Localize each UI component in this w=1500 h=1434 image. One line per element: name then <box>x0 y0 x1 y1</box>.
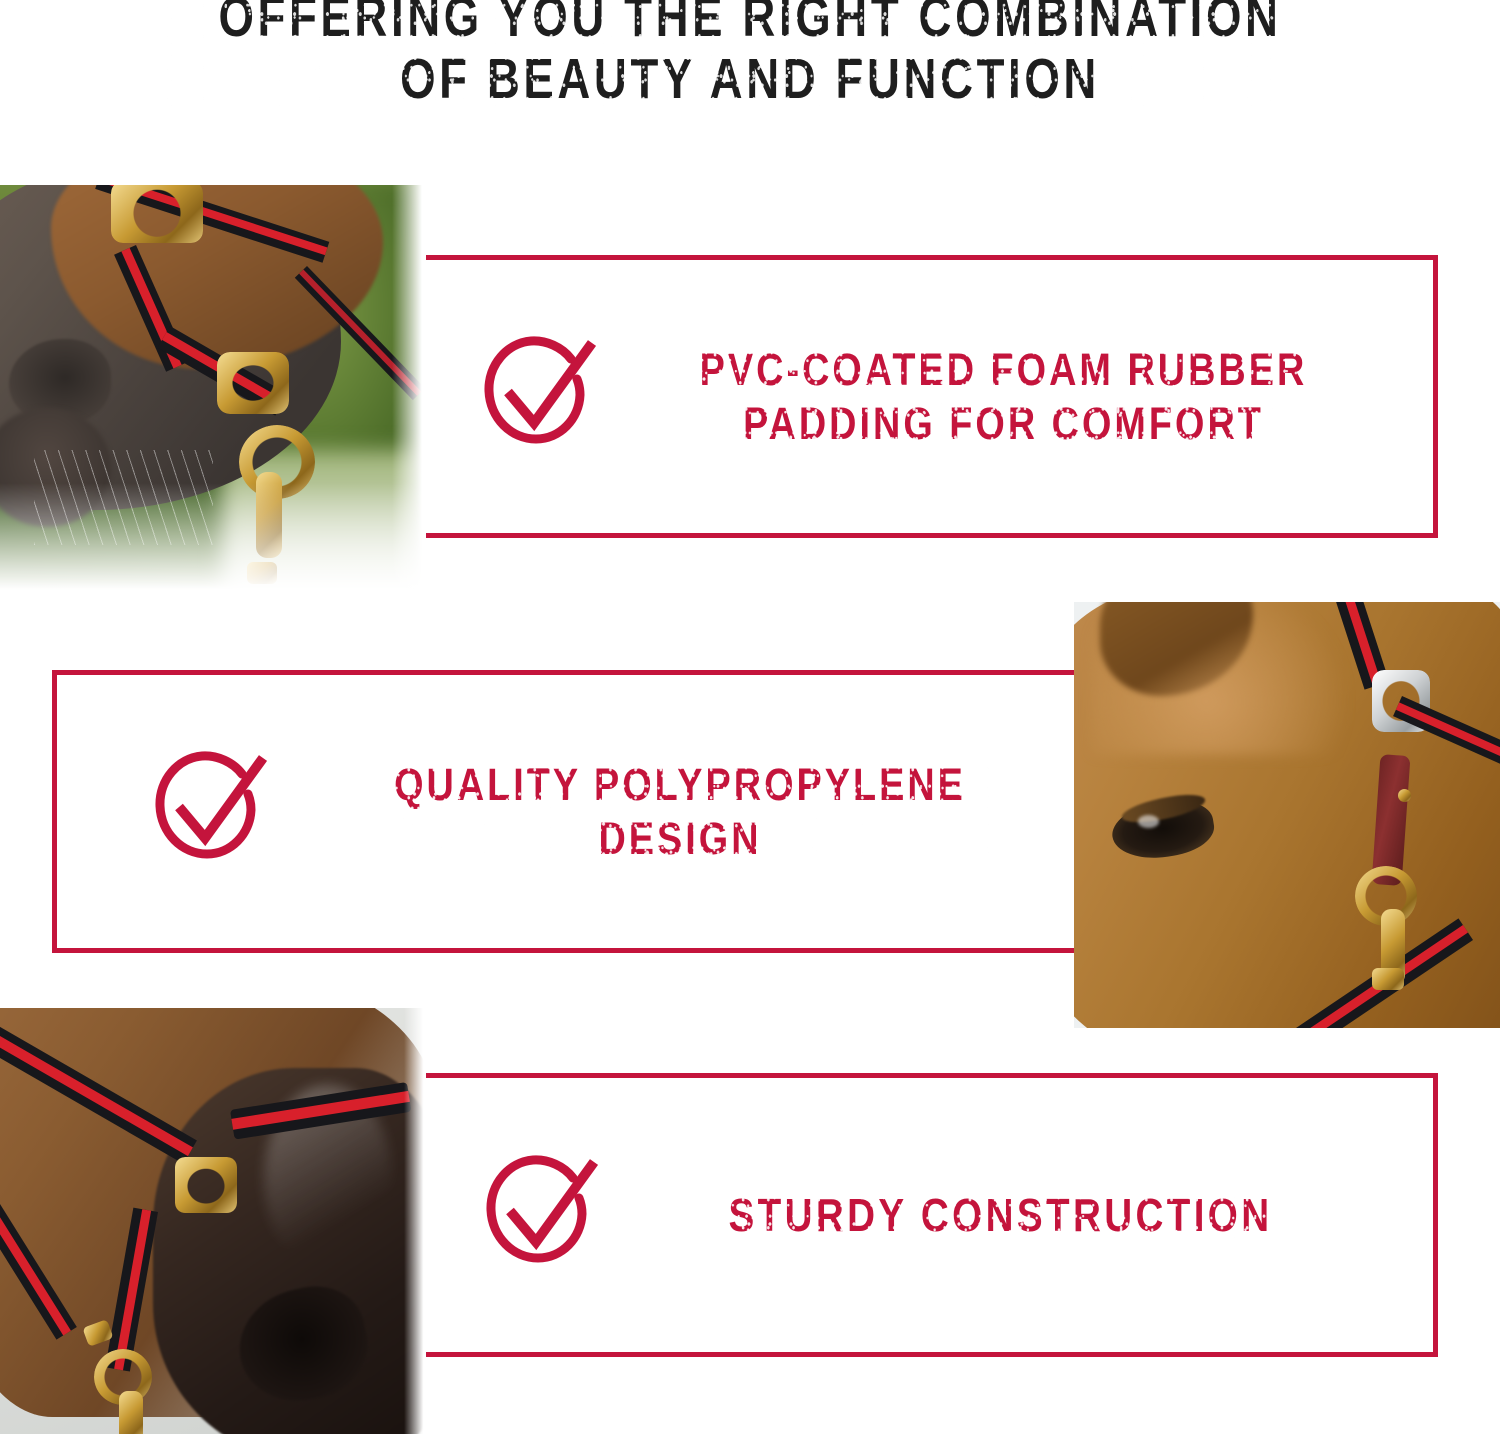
feature-box-sturdy-construction: STURDY CONSTRUCTION <box>345 1073 1438 1357</box>
product-photo-muzzle-halter <box>0 185 426 613</box>
infographic-page: OFFERING YOU THE RIGHT COMBINATION OF BE… <box>0 0 1500 1434</box>
feature-label-polypropylene-design: QUALITY POLYPROPYLENE DESIGN <box>362 758 999 864</box>
headline-line-1: OFFERING YOU THE RIGHT COMBINATION <box>150 0 1350 48</box>
feature-box-pvc-padding: PVC-COATED FOAM RUBBER PADDING FOR COMFO… <box>345 255 1438 538</box>
page-title: OFFERING YOU THE RIGHT COMBINATION OF BE… <box>150 0 1350 110</box>
product-photo-noseband <box>0 1008 426 1434</box>
check-circle-icon <box>480 1154 602 1277</box>
product-photo-horse-eye <box>1074 602 1500 1028</box>
headline-line-2: OF BEAUTY AND FUNCTION <box>150 48 1350 110</box>
check-circle-icon <box>478 335 600 458</box>
feature-box-polypropylene-design: QUALITY POLYPROPYLENE DESIGN <box>52 670 1112 953</box>
feature-label-pvc-padding: PVC-COATED FOAM RUBBER PADDING FOR COMFO… <box>693 343 1314 449</box>
feature-label-sturdy-construction: STURDY CONSTRUCTION <box>696 1188 1305 1242</box>
check-circle-icon <box>149 750 271 873</box>
